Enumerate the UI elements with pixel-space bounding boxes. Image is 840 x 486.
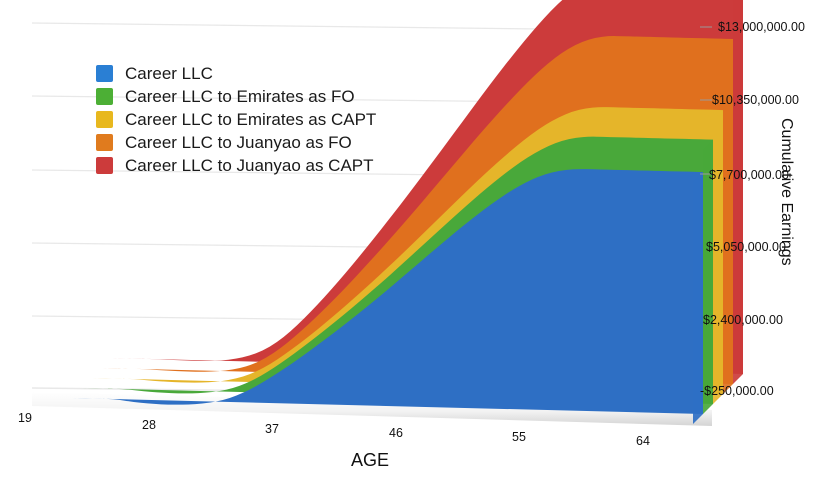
x-tick-label-5: 64 [636,434,650,448]
x-axis-title: AGE [0,450,740,471]
legend-label: Career LLC to Juanyao as FO [125,134,352,151]
legend-item-juanyao-capt[interactable]: Career LLC to Juanyao as CAPT [96,154,376,176]
legend-swatch-red-icon [96,157,113,174]
legend-swatch-green-icon [96,88,113,105]
y-axis-title: Cumulative Earnings [777,118,795,266]
legend-label: Career LLC [125,65,213,82]
y-tick-label-4: $2,400,000.00 [703,313,783,327]
chart-container: Career LLC Career LLC to Emirates as FO … [0,0,840,486]
x-tick-label-2: 37 [265,422,279,436]
legend-label: Career LLC to Emirates as CAPT [125,111,376,128]
legend-label: Career LLC to Juanyao as CAPT [125,157,374,174]
legend-swatch-yellow-icon [96,111,113,128]
legend-item-emirates-fo[interactable]: Career LLC to Emirates as FO [96,85,376,107]
x-tick-label-3: 46 [389,426,403,440]
chart-legend: Career LLC Career LLC to Emirates as FO … [96,62,376,176]
legend-item-career-llc[interactable]: Career LLC [96,62,376,84]
x-tick-label-4: 55 [512,430,526,444]
y-tick-label-5: -$250,000.00 [700,384,774,398]
y-tick-label-0: $13,000,000.00 [718,20,805,34]
legend-item-emirates-capt[interactable]: Career LLC to Emirates as CAPT [96,108,376,130]
legend-swatch-blue-icon [96,65,113,82]
y-tick-label-3: $5,050,000.00 [706,240,786,254]
legend-item-juanyao-fo[interactable]: Career LLC to Juanyao as FO [96,131,376,153]
x-tick-label-1: 28 [142,418,156,432]
legend-swatch-orange-icon [96,134,113,151]
y-tick-label-1: $10,350,000.00 [712,93,799,107]
x-tick-label-0: 19 [18,411,32,425]
legend-label: Career LLC to Emirates as FO [125,88,355,105]
